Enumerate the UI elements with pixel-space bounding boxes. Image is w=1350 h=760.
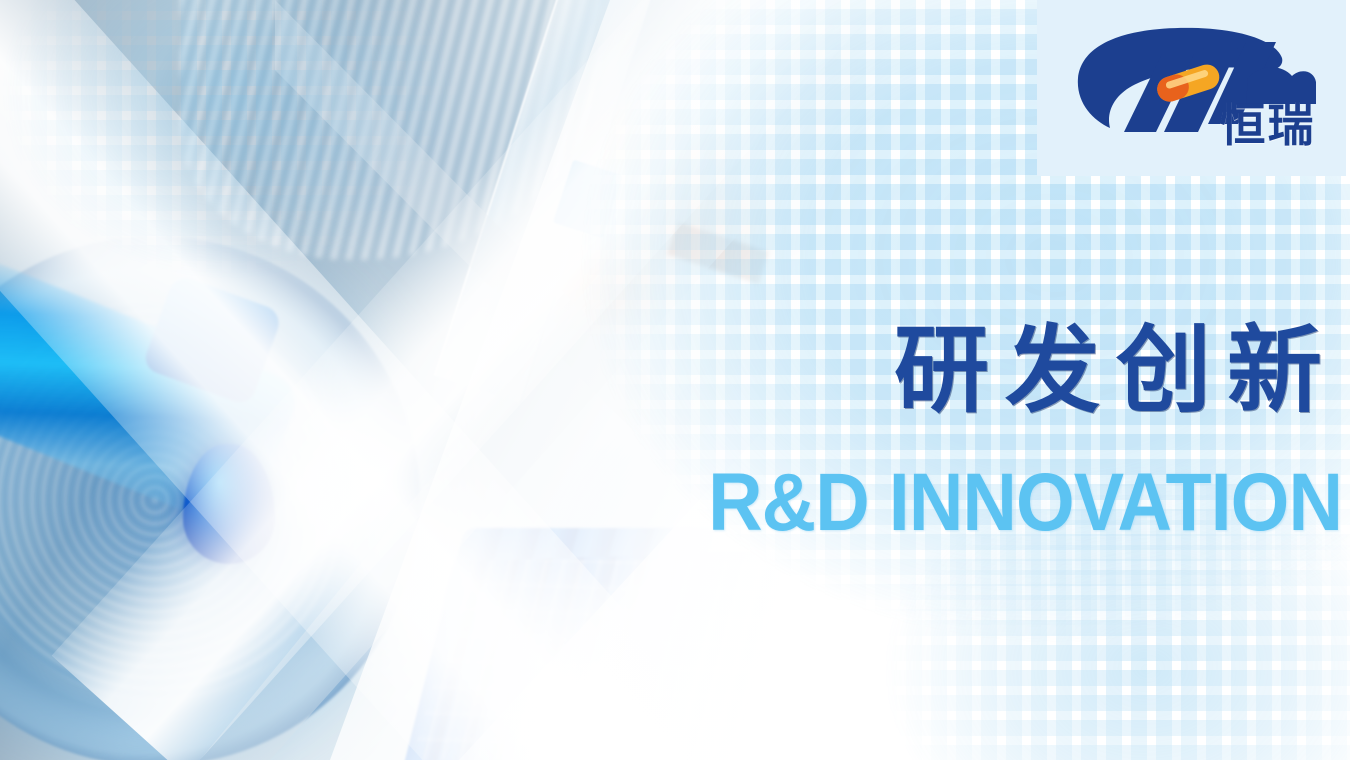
page-subtitle-en: R&D INNOVATION bbox=[678, 462, 1342, 544]
page-title-cn: 研发创新 bbox=[742, 322, 1342, 422]
hengrui-logo-panel[interactable]: 恒瑞 bbox=[1037, 0, 1350, 176]
logo-brand-text: 恒瑞 bbox=[1220, 102, 1316, 148]
headline-en-wrapper: R&D INNOVATION bbox=[620, 462, 1342, 544]
logo-wrap: 恒瑞 bbox=[1070, 24, 1320, 152]
headline-cn-wrapper: 研发创新 bbox=[742, 322, 1342, 422]
rd-innovation-banner: 恒瑞 研发创新 R&D INNOVATION bbox=[0, 0, 1350, 760]
